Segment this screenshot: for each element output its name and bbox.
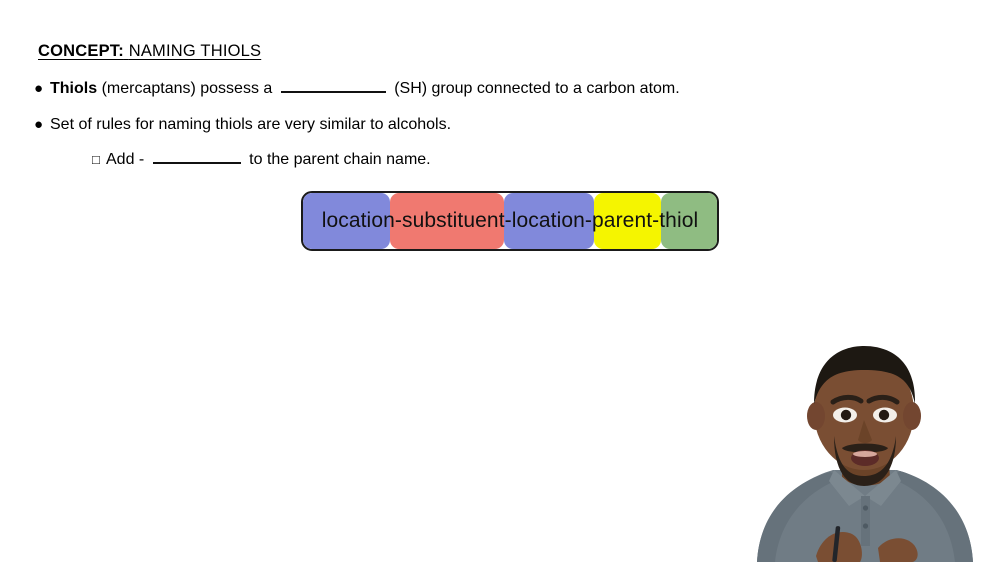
bullet1-suffix-text: (SH) group connected to a carbon atom. (394, 80, 680, 97)
sub-bullet-item-add-suffix: □ Add - to the parent chain name. (92, 151, 431, 169)
fill-in-blank-2 (153, 162, 241, 164)
bullet3-suffix-text: to the parent chain name. (249, 151, 430, 168)
hollow-square-bullet-icon: □ (92, 153, 106, 166)
fill-in-blank-1 (281, 91, 386, 93)
instructor-video-overlay (730, 320, 1000, 562)
instructor-illustration (730, 320, 1000, 562)
bullet2-text: Set of rules for naming thiols are very … (50, 116, 451, 134)
naming-format-label: location-substituent-location-parent-thi… (303, 193, 717, 249)
filled-circle-bullet-icon: ● (34, 81, 50, 96)
concept-subject: NAMING THIOLS (124, 42, 261, 60)
bullet1-mid-text: (mercaptans) possess a (102, 80, 273, 97)
concept-keyword: CONCEPT: (38, 42, 124, 60)
bullet-text-line: Thiols (mercaptans) possess a (SH) group… (50, 80, 680, 98)
filled-circle-bullet-icon: ● (34, 117, 50, 132)
bullet1-bold-term: Thiols (50, 80, 97, 97)
bullet-text-line: Add - to the parent chain name. (106, 151, 431, 169)
bullet-item-thiols-definition: ● Thiols (mercaptans) possess a (SH) gro… (34, 80, 680, 98)
page-title: CONCEPT: NAMING THIOLS (38, 42, 261, 61)
naming-format-diagram: location-substituent-location-parent-thi… (301, 191, 719, 251)
concept-subject-text: NAMING THIOLS (129, 42, 261, 60)
slide-canvas: CONCEPT: NAMING THIOLS ● Thiols (mercapt… (0, 0, 1000, 562)
bullet3-prefix-text: Add - (106, 151, 144, 168)
bullet-item-naming-rules: ● Set of rules for naming thiols are ver… (34, 116, 451, 134)
